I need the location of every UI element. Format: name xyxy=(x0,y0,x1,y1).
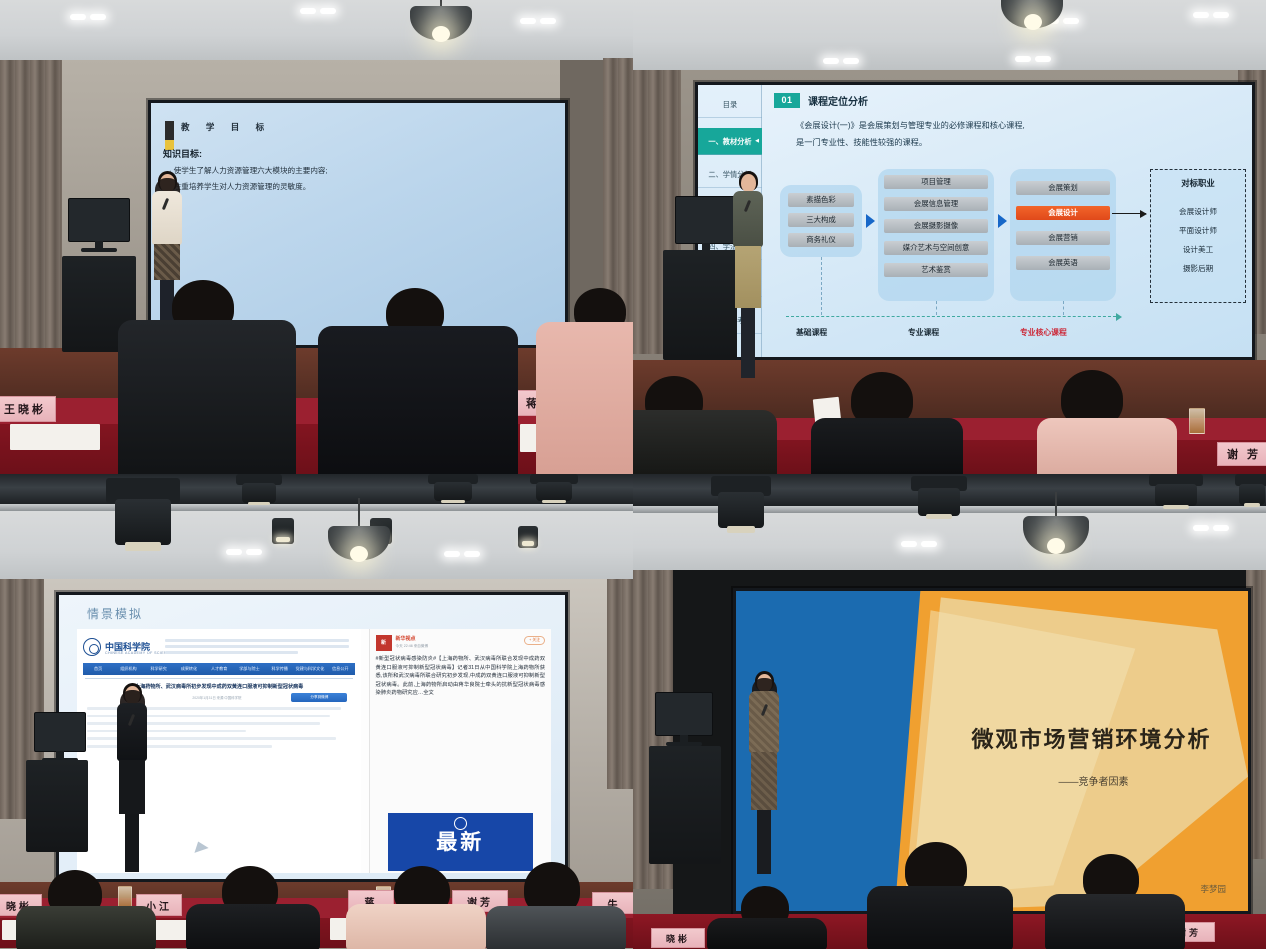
chip-major-2[interactable]: 会展信息管理 xyxy=(884,197,988,211)
downlight-icon xyxy=(70,14,86,20)
par-can-light-icon xyxy=(272,518,294,544)
card-headline: 最新 xyxy=(436,832,484,854)
article-meta: 2020年1月31日 来源:中国科学院 xyxy=(192,695,241,700)
moving-head-light-icon xyxy=(711,476,771,534)
slide-course-positioning: 目录 一、教材分析 二、学情分析 三、教法分析 四、学法分析 五、教学过程 六、… xyxy=(698,85,1252,357)
browser-screenshot: 中国科学院 CHINESE ACADEMY OF SCIENCES 首页 组织机… xyxy=(77,629,551,873)
footer-label-major: 专业课程 xyxy=(908,327,939,338)
slide-title: 情景模拟 xyxy=(87,605,143,622)
downlight-icon xyxy=(1193,525,1209,531)
slide-paragraph-2: 是一门专业性、技能性较强的课程。 xyxy=(796,136,927,148)
presenter xyxy=(747,674,781,890)
footer-label-basic: 基础课程 xyxy=(796,327,827,338)
projection-screen: 目录 一、教材分析 二、学情分析 三、教法分析 四、学法分析 五、教学过程 六、… xyxy=(695,82,1255,360)
slide-bullet-1: 使学生了解人力资源管理六大模块的主要内容; xyxy=(169,165,328,176)
nav-item-0[interactable]: 首页 xyxy=(83,666,113,672)
slide-marketing-environment: 微观市场营销环境分析 ——竞争者因素 李梦园 xyxy=(736,591,1248,911)
site-logo-row: 中国科学院 CHINESE ACADEMY OF SCIENCES xyxy=(83,635,355,661)
slide-subhead: 知识目标: xyxy=(163,147,202,160)
photo-collage: 教 学 目 标 知识目标: 使学生了解人力资源管理六大模块的主要内容; 注重培养… xyxy=(0,0,1266,949)
slide-author: 李梦园 xyxy=(1200,883,1226,895)
chip-basic-2[interactable]: 三大构成 xyxy=(788,213,854,227)
moving-head-light-icon xyxy=(236,474,282,506)
nav-item-2[interactable]: 科学研究 xyxy=(144,666,174,672)
divider xyxy=(85,678,353,679)
nameplate: 晓彬 xyxy=(651,928,705,948)
career-box-title: 对标职业 xyxy=(1151,177,1245,189)
weibo-image-card: 最新 xyxy=(388,813,533,871)
arrow-right-icon xyxy=(866,214,875,228)
nav-item-8[interactable]: 信息公开 xyxy=(325,666,355,672)
sidebar-item-textbook-analysis[interactable]: 一、教材分析 xyxy=(698,128,762,155)
podium-monitor xyxy=(34,712,86,752)
tick-basic xyxy=(821,257,822,315)
judge-paper xyxy=(10,424,100,450)
downlight-icon xyxy=(1193,12,1209,18)
podium-monitor xyxy=(655,692,713,736)
slide-title: 微观市场营销环境分析 xyxy=(972,722,1212,754)
curtain-right xyxy=(607,579,633,789)
site-nav[interactable]: 首页 组织机构 科学研究 成果转化 人才教育 学部与院士 科学传播 党建与科学文… xyxy=(83,663,355,675)
tea-cup xyxy=(1189,408,1205,434)
moving-head-light-icon xyxy=(1149,474,1203,510)
par-can-light-icon xyxy=(518,526,538,548)
pendant-lamp-icon xyxy=(410,0,472,46)
nav-item-3[interactable]: 成果转化 xyxy=(174,666,204,672)
tick-major xyxy=(936,301,937,315)
card-logo-icon xyxy=(454,817,467,830)
downlight-icon xyxy=(444,551,460,557)
slide-accent-mark xyxy=(165,121,174,140)
chip-core-3[interactable]: 会展营销 xyxy=(1016,231,1110,245)
podium-monitor xyxy=(68,198,130,242)
podium xyxy=(663,250,737,360)
tick-core xyxy=(1063,301,1064,315)
tea-cup xyxy=(118,886,132,908)
chip-major-1[interactable]: 项目管理 xyxy=(884,175,988,189)
chip-core-4[interactable]: 会展英语 xyxy=(1016,256,1110,270)
mouse-cursor-icon xyxy=(195,841,210,856)
chip-major-5[interactable]: 艺术鉴赏 xyxy=(884,263,988,277)
weibo-account: 新华视点 xyxy=(396,635,416,642)
weibo-panel: 新 新华视点 今天 22:46 来自微博 + 关注 #新型冠状病毒感染防炎#【上… xyxy=(369,629,551,873)
career-item-2: 平面设计师 xyxy=(1151,225,1245,236)
slide-header: 教 学 目 标 xyxy=(181,121,271,133)
podium-monitor xyxy=(675,196,737,244)
weibo-text: #新型冠状病毒感染防炎#【上海药物所、武汉病毒所联合发现中成药双黄连口服液可抑制… xyxy=(376,655,545,698)
moving-head-light-icon xyxy=(428,474,478,504)
moving-head-light-icon xyxy=(911,476,967,520)
cas-logo-icon xyxy=(83,638,101,656)
panel-bottom-left: 情景模拟 中国科学院 CHINESE ACADEMY OF SCIENCES xyxy=(0,474,633,949)
ceiling xyxy=(633,0,1266,74)
presenter xyxy=(116,686,148,886)
footer-label-core: 专业核心课程 xyxy=(1020,327,1067,338)
projection-screen: 微观市场营销环境分析 ——竞争者因素 李梦园 xyxy=(733,588,1251,914)
top-headlines xyxy=(165,639,349,657)
nav-item-4[interactable]: 人才教育 xyxy=(204,666,234,672)
arrow-right-icon xyxy=(998,214,1007,228)
chip-basic-3[interactable]: 商务礼仪 xyxy=(788,233,854,247)
nav-item-7[interactable]: 党建与科学文化 xyxy=(295,666,325,672)
career-box: 对标职业 会展设计师 平面设计师 设计美工 摄影后期 xyxy=(1150,169,1246,303)
downlight-icon xyxy=(226,549,242,555)
arrow-to-career-icon xyxy=(1112,213,1146,214)
progression-arrow xyxy=(786,316,1116,317)
chip-major-3[interactable]: 会展摄影摄像 xyxy=(884,219,988,233)
chip-basic-1[interactable]: 素描色彩 xyxy=(788,193,854,207)
downlight-icon xyxy=(300,8,316,14)
ceiling xyxy=(0,0,633,64)
sidebar-item-contents[interactable]: 目录 xyxy=(698,91,762,118)
chip-major-4[interactable]: 媒介艺术与空间创意 xyxy=(884,241,988,255)
chip-core-highlighted[interactable]: 会展设计 xyxy=(1016,206,1110,220)
share-button[interactable]: 分享到微博 xyxy=(291,693,347,702)
downlight-icon xyxy=(1015,56,1031,62)
nav-item-6[interactable]: 科学传播 xyxy=(265,666,295,672)
moving-head-light-icon xyxy=(1235,474,1266,508)
slide-subtitle: ——竞争者因素 xyxy=(1059,773,1129,788)
follow-button[interactable]: + 关注 xyxy=(524,636,545,645)
podium xyxy=(649,746,721,864)
slide-paragraph-1: 《会展设计(一)》是会展策划与管理专业的必修课程和核心课程, xyxy=(796,119,1025,131)
chip-core-1[interactable]: 会展策划 xyxy=(1016,181,1110,195)
panel-bottom-right: 微观市场营销环境分析 ——竞争者因素 李梦园 晓彬 谢芳 xyxy=(633,474,1266,949)
panel-top-right: 目录 一、教材分析 二、学情分析 三、教法分析 四、学法分析 五、教学过程 六、… xyxy=(633,0,1266,474)
slide-number-tag: 01 xyxy=(774,93,800,108)
pendant-lamp-icon xyxy=(328,498,390,560)
ceiling xyxy=(0,511,633,585)
career-item-1: 会展设计师 xyxy=(1151,206,1245,217)
nav-item-5[interactable]: 学部与院士 xyxy=(234,666,264,672)
career-item-3: 设计美工 xyxy=(1151,244,1245,255)
slide-title: 课程定位分析 xyxy=(808,93,868,108)
pendant-lamp-icon xyxy=(1001,0,1065,30)
nameplate: 王晓彬 xyxy=(0,396,56,422)
downlight-icon xyxy=(901,541,917,547)
career-item-4: 摄影后期 xyxy=(1151,263,1245,274)
curtain-right xyxy=(603,58,633,324)
podium xyxy=(26,760,88,852)
moving-head-light-icon xyxy=(106,478,180,552)
nameplate: 谢 芳 xyxy=(1217,442,1266,466)
panel-top-left: 教 学 目 标 知识目标: 使学生了解人力资源管理六大模块的主要内容; 注重培养… xyxy=(0,0,633,474)
curtain-left xyxy=(0,60,62,354)
weibo-logo-icon: 新 xyxy=(376,635,392,651)
pendant-lamp-icon xyxy=(1023,492,1089,558)
moving-head-light-icon xyxy=(530,474,578,504)
weibo-meta: 今天 22:46 来自微博 xyxy=(396,644,429,649)
truss-pipe xyxy=(0,504,633,511)
downlight-icon xyxy=(823,58,839,64)
nav-item-1[interactable]: 组织机构 xyxy=(113,666,143,672)
downlight-icon xyxy=(520,18,536,24)
weibo-header: 新 新华视点 今天 22:46 来自微博 + 关注 xyxy=(376,635,545,651)
presenter xyxy=(731,174,765,410)
slide-bullet-2: 注重培养学生对人力资源管理的灵敏度。 xyxy=(169,181,310,192)
